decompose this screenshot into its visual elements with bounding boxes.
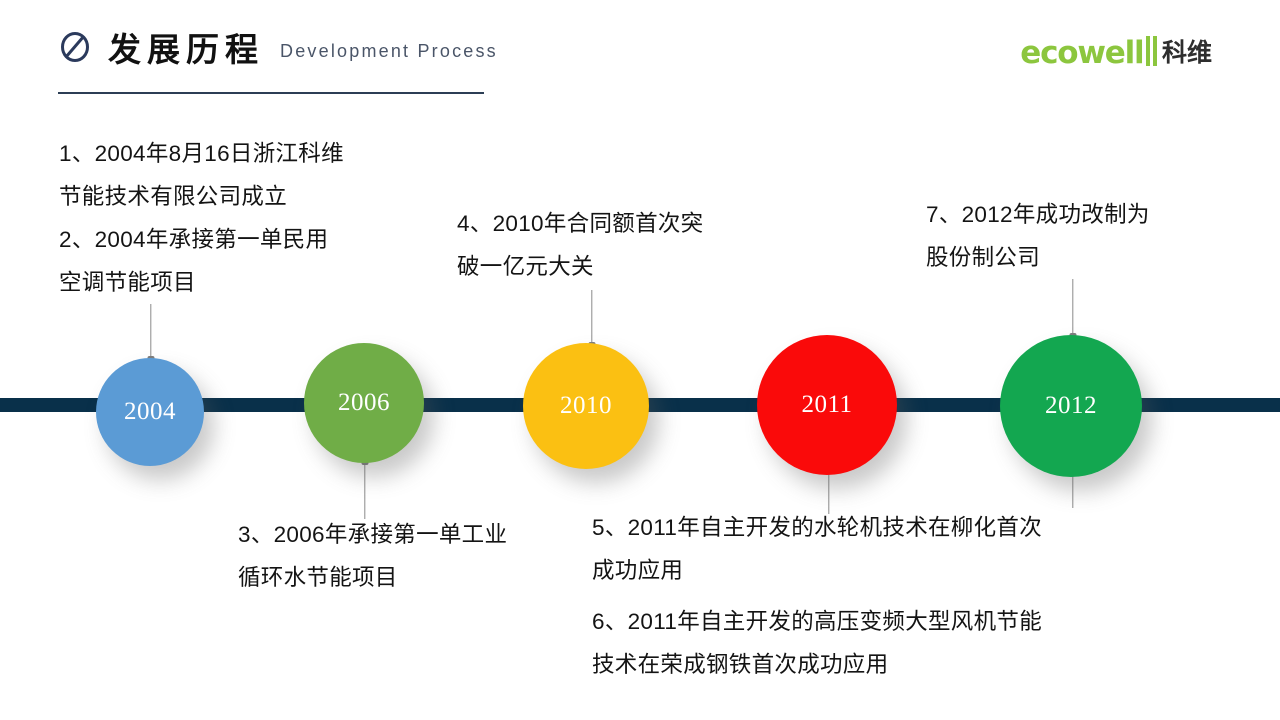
slash-circle-icon — [58, 30, 92, 64]
connector-line — [364, 461, 365, 519]
slide-header: 发展历程 Development Process ecowell 科维 — [0, 0, 1280, 110]
timeline-node-2004[interactable]: 2004 — [96, 358, 204, 466]
logo-wordmark: ecowell — [1020, 38, 1143, 69]
timeline-node-2006[interactable]: 2006 — [304, 343, 424, 463]
timeline-node-label: 2006 — [338, 389, 390, 417]
logo-bars-icon — [1146, 36, 1157, 70]
note-2011-water-turbine-text: 5、2011年自主开发的水轮机技术在柳化首次 成功应用 — [592, 506, 1152, 592]
page-title: 发展历程 — [108, 33, 264, 66]
timeline-node-label: 2012 — [1045, 392, 1097, 420]
connector-line — [591, 290, 592, 346]
connector-note4-to-2010 — [587, 290, 596, 346]
note-2004-text: 1、2004年8月16日浙江科维 节能技术有限公司成立 2、2004年承接第一单… — [59, 132, 459, 304]
brand-logo: ecowell 科维 — [1020, 36, 1212, 70]
connector-2006-to-note3 — [360, 461, 369, 519]
title-group: 发展历程 Development Process — [58, 30, 498, 68]
note-2012-text: 7、2012年成功改制为 股份制公司 — [926, 193, 1226, 279]
timeline-node-label: 2011 — [801, 391, 852, 419]
connector-line — [1072, 279, 1073, 337]
timeline-node-label: 2010 — [560, 392, 612, 420]
timeline-node-2011[interactable]: 2011 — [757, 335, 897, 475]
note-2006-text: 3、2006年承接第一单工业 循环水节能项目 — [238, 513, 598, 599]
connector-line — [150, 304, 151, 360]
connector-note7-to-2012 — [1068, 279, 1077, 337]
note-2010-text: 4、2010年合同额首次突 破一亿元大关 — [457, 202, 777, 288]
timeline-node-2010[interactable]: 2010 — [523, 343, 649, 469]
note-2011-fan-text: 6、2011年自主开发的高压变频大型风机节能 技术在荣成钢铁首次成功应用 — [592, 600, 1162, 686]
page-subtitle: Development Process — [280, 41, 498, 62]
logo-chinese-name: 科维 — [1162, 41, 1212, 66]
timeline-node-label: 2004 — [124, 398, 176, 426]
title-divider — [58, 92, 484, 94]
timeline-node-2012[interactable]: 2012 — [1000, 335, 1142, 477]
connector-note1-to-2004 — [146, 304, 155, 360]
